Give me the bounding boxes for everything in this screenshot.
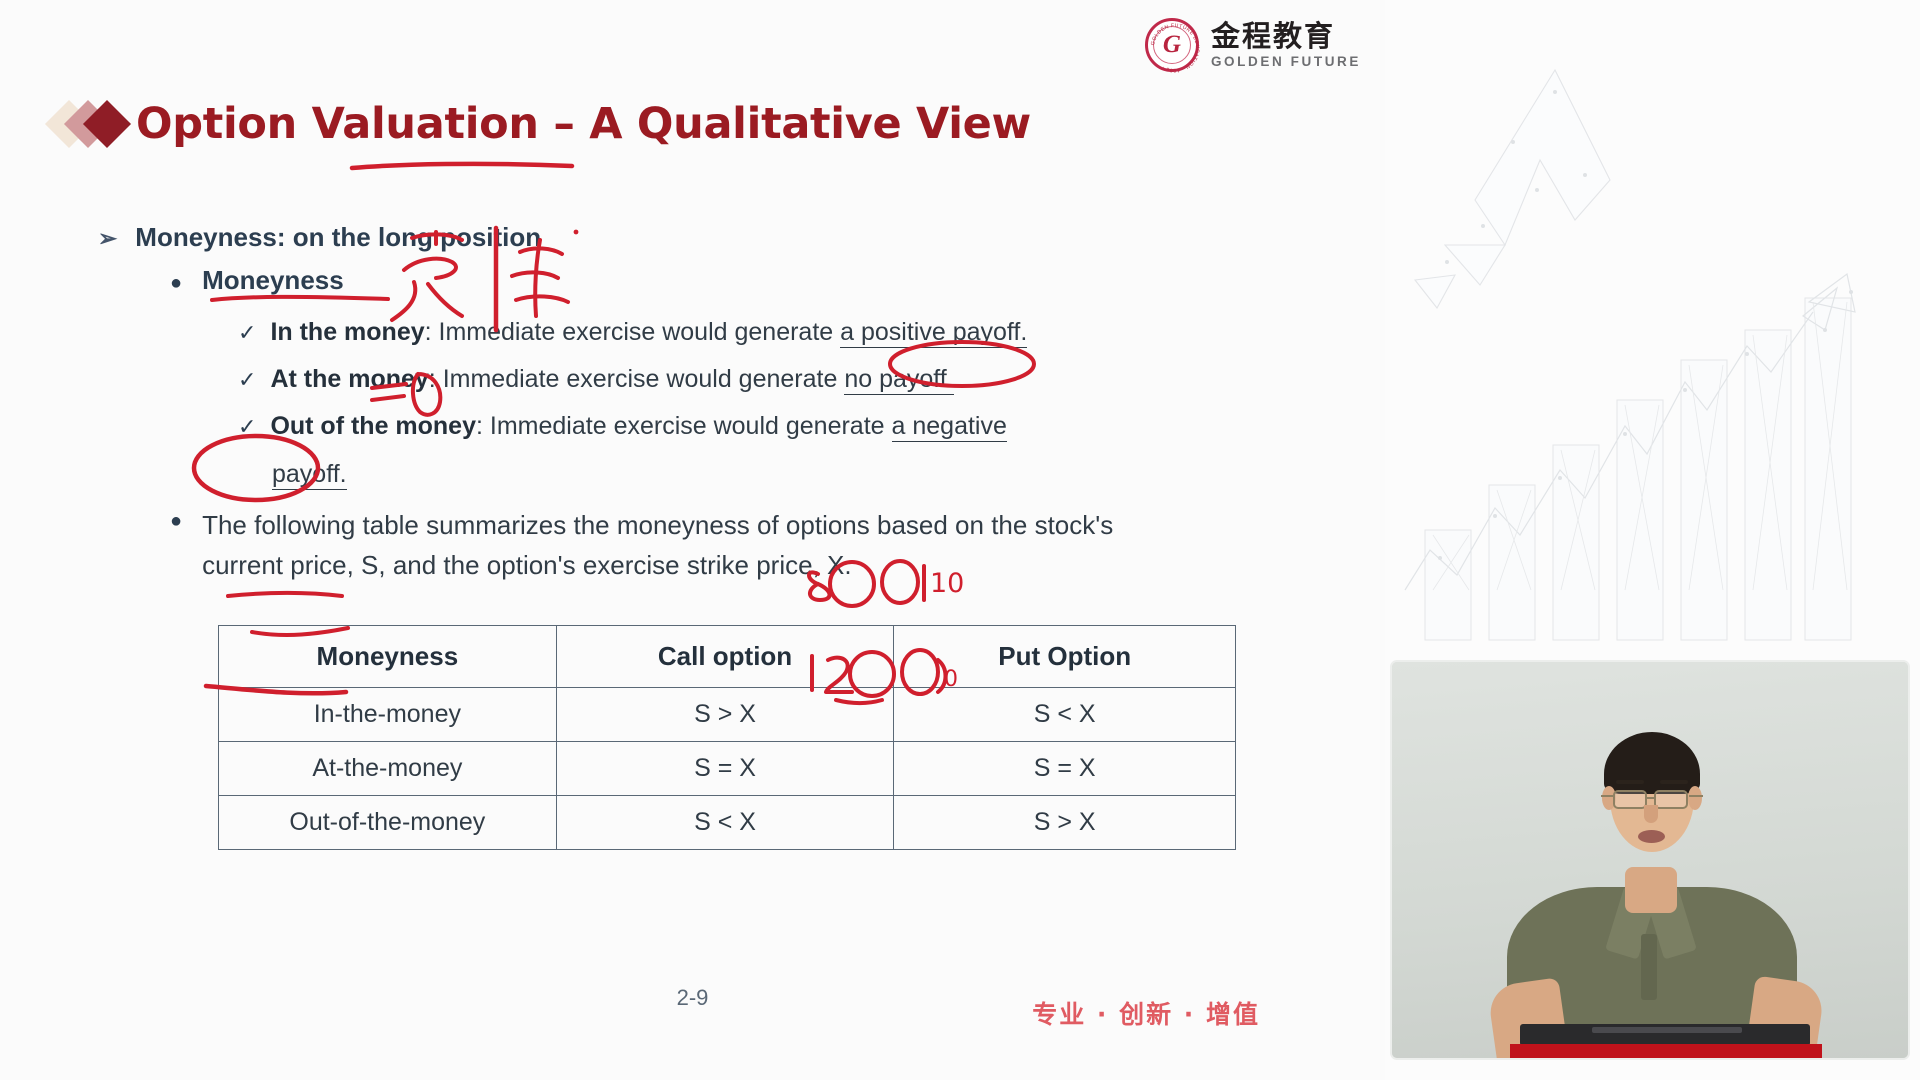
definition-body: Immediate exercise would generate: [443, 365, 845, 393]
column-header-put: Put Option: [894, 626, 1236, 688]
definition-term: In the money: [270, 318, 424, 346]
definition-term: At the money: [270, 365, 428, 393]
cell-moneyness: In-the-money: [219, 688, 557, 742]
cell-put: S > X: [894, 796, 1236, 850]
definition-in-the-money: ✓ In the money: Immediate exercise would…: [238, 318, 1027, 347]
definition-underlined: a negative: [892, 412, 1007, 442]
definition-sep: :: [429, 365, 443, 393]
person-eyebrow-left: [1616, 780, 1644, 784]
column-header-moneyness: Moneyness: [219, 626, 557, 688]
person-nose: [1644, 805, 1658, 823]
definition-wrap-underlined: payoff.: [272, 460, 347, 490]
moneyness-table: Moneyness Call option Put Option In-the-…: [218, 625, 1236, 850]
check-icon: ✓: [238, 414, 256, 440]
table-row: In-the-money S > X S < X: [219, 688, 1236, 742]
page-title: Option Valuation – A Qualitative View: [136, 99, 1031, 149]
definition-text: In the money: Immediate exercise would g…: [270, 318, 1027, 347]
lecturer-video-feed[interactable]: [1390, 660, 1910, 1060]
slide-content-area: GOLDEN FUTURE EDUCATION · 1995 · G 金程教育 …: [0, 0, 1385, 1080]
column-header-call: Call option: [556, 626, 894, 688]
laptop-base: [1510, 1044, 1822, 1060]
definition-body: Immediate exercise would generate: [439, 318, 841, 346]
presentation-slide: GOLDEN FUTURE EDUCATION · 1995 · G 金程教育 …: [0, 0, 1920, 1080]
check-icon: ✓: [238, 367, 256, 393]
definition-sep: :: [476, 412, 490, 440]
bullet-level1-label: Moneyness: on the long position: [135, 222, 541, 253]
glasses-temple-left-icon: [1601, 795, 1615, 797]
definition-sep: :: [425, 318, 439, 346]
cell-call: S < X: [556, 796, 894, 850]
definition-underlined: no payoff.: [844, 365, 953, 395]
logo-wordmark: 金程教育 GOLDEN FUTURE: [1211, 22, 1361, 69]
wireframe-growth-chart-icon: [1385, 30, 1920, 650]
glasses-lens-left-icon: [1613, 790, 1647, 809]
logo-chinese-name: 金程教育: [1211, 22, 1361, 51]
definition-wrap-line: payoff.: [272, 460, 347, 489]
paragraph-text: The following table summarizes the money…: [202, 506, 1180, 585]
cell-moneyness: At-the-money: [219, 742, 557, 796]
check-icon: ✓: [238, 320, 256, 346]
table-row: Out-of-the-money S < X S > X: [219, 796, 1236, 850]
cell-put: S = X: [894, 742, 1236, 796]
glasses-lens-right-icon: [1654, 790, 1688, 809]
person-ear-right: [1688, 786, 1702, 810]
seal-badge-icon: GOLDEN FUTURE EDUCATION · 1995 · G: [1145, 18, 1199, 72]
definition-at-the-money: ✓ At the money: Immediate exercise would…: [238, 365, 954, 394]
cell-call: S = X: [556, 742, 894, 796]
definition-text: Out of the money: Immediate exercise wou…: [270, 412, 1006, 441]
footer-tagline: 专业 · 创新 · 增值: [1032, 995, 1260, 1031]
bullet-level1: ➢ Moneyness: on the long position: [98, 222, 541, 253]
person-neck: [1625, 867, 1677, 913]
dot-bullet-icon: ●: [170, 272, 182, 295]
paragraph-bullet: ● The following table summarizes the mon…: [170, 506, 1180, 585]
definition-out-of-the-money: ✓ Out of the money: Immediate exercise w…: [238, 412, 1007, 441]
definition-text: At the money: Immediate exercise would g…: [270, 365, 953, 394]
seal-monogram: G: [1148, 21, 1196, 69]
person-shirt-placket: [1641, 934, 1657, 1000]
definition-term: Out of the money: [270, 412, 476, 440]
glasses-temple-right-icon: [1689, 795, 1703, 797]
definition-underlined: a positive payoff.: [840, 318, 1027, 348]
glasses-bridge-icon: [1647, 797, 1656, 799]
person-mouth: [1638, 830, 1665, 843]
dot-bullet-icon: ●: [170, 506, 182, 536]
definition-body: Immediate exercise would generate: [490, 412, 892, 440]
cell-put: S < X: [894, 688, 1236, 742]
table-row: At-the-money S = X S = X: [219, 742, 1236, 796]
laptop-hinge-strip: [1592, 1027, 1742, 1033]
cell-call: S > X: [556, 688, 894, 742]
person-eyebrow-right: [1660, 780, 1688, 784]
diamond-bullet-icon: [52, 96, 136, 152]
table-header-row: Moneyness Call option Put Option: [219, 626, 1236, 688]
logo-english-name: GOLDEN FUTURE: [1211, 55, 1361, 69]
bullet-level2: ● Moneyness: [170, 265, 344, 296]
bullet-level2-label: Moneyness: [202, 265, 344, 296]
arrow-bullet-icon: ➢: [98, 225, 117, 252]
slide-title-row: Option Valuation – A Qualitative View: [52, 96, 1031, 152]
brand-logo: GOLDEN FUTURE EDUCATION · 1995 · G 金程教育 …: [1145, 18, 1361, 72]
cell-moneyness: Out-of-the-money: [219, 796, 557, 850]
